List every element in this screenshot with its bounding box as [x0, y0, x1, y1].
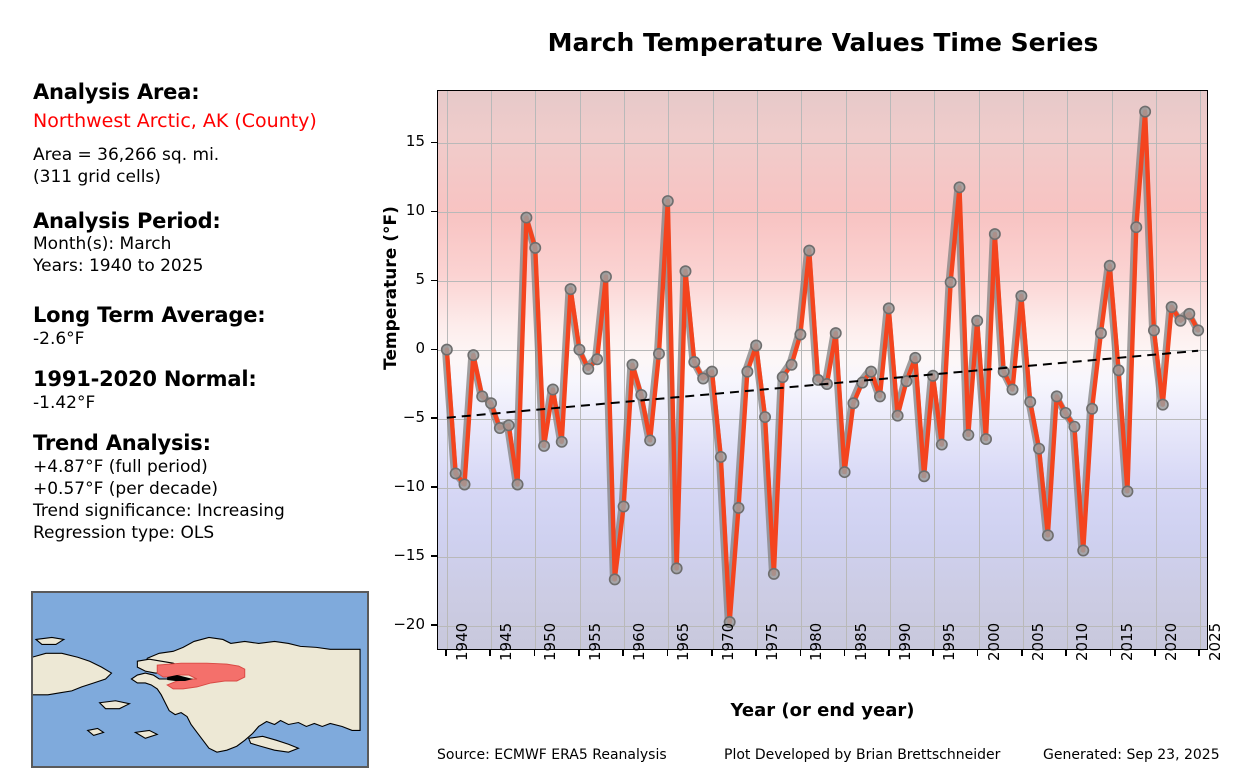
x-axis-tick-mark [800, 650, 802, 656]
data-point-marker [1113, 365, 1123, 375]
data-point-marker [539, 441, 549, 451]
data-point-marker [698, 373, 708, 383]
data-point-marker [1025, 397, 1035, 407]
data-point-marker [795, 329, 805, 339]
y-axis-tick-label: 10 [379, 203, 425, 218]
x-axis-tick-mark [1198, 650, 1200, 656]
data-point-marker [760, 412, 770, 422]
data-point-marker [654, 349, 664, 359]
data-point-marker [945, 277, 955, 287]
data-point-marker [1043, 530, 1053, 540]
data-point-marker [548, 384, 558, 394]
data-point-marker [557, 437, 567, 447]
climate-timeseries-page: Analysis Area: Northwest Arctic, AK (Cou… [0, 0, 1250, 780]
data-point-marker [875, 391, 885, 401]
trend-per-decade: +0.57°F (per decade) [33, 479, 218, 500]
data-point-marker [601, 272, 611, 282]
data-point-marker [866, 366, 876, 376]
data-point-marker [442, 344, 452, 354]
data-point-marker [751, 340, 761, 350]
x-axis-tick-label: 1990 [896, 623, 914, 661]
data-point-marker [1052, 391, 1062, 401]
data-point-marker [610, 574, 620, 584]
footer-source: Source: ECMWF ERA5 Reanalysis [437, 747, 667, 763]
x-axis-tick-label: 1970 [719, 623, 737, 661]
data-point-marker [848, 398, 858, 408]
x-axis-tick-mark [622, 650, 624, 656]
chart-title: March Temperature Values Time Series [437, 28, 1209, 57]
x-axis-tick-mark [932, 650, 934, 656]
x-axis-tick-mark [888, 650, 890, 656]
x-axis-tick-label: 2015 [1118, 623, 1136, 661]
y-axis-tick-label: −10 [379, 479, 425, 494]
x-axis-tick-label: 1950 [541, 623, 559, 661]
data-point-marker [1158, 399, 1168, 409]
data-point-marker [565, 284, 575, 294]
x-axis-tick-label: 2025 [1206, 623, 1224, 661]
x-axis-label: Year (or end year) [437, 700, 1208, 721]
data-point-marker [504, 420, 514, 430]
analysis-area-grid-cells: (311 grid cells) [33, 167, 161, 188]
data-point-marker [583, 364, 593, 374]
data-point-marker [1122, 486, 1132, 496]
y-axis-tick-mark [431, 349, 437, 351]
plot-area [437, 90, 1208, 650]
data-point-marker [954, 182, 964, 192]
x-axis-tick-mark [711, 650, 713, 656]
data-point-marker [671, 563, 681, 573]
data-point-marker [1007, 384, 1017, 394]
x-axis-tick-mark [755, 650, 757, 656]
normal-value: -1.42°F [33, 393, 95, 414]
normal-header: 1991-2020 Normal: [33, 367, 257, 391]
data-point-marker [689, 357, 699, 367]
x-axis-tick-mark [445, 650, 447, 656]
data-point-marker [831, 328, 841, 338]
data-point-marker [512, 479, 522, 489]
y-axis-tick-mark [431, 417, 437, 419]
data-point-marker [680, 266, 690, 276]
data-point-marker [1149, 325, 1159, 335]
y-axis-tick-mark [431, 211, 437, 213]
y-axis-tick-label: 15 [379, 134, 425, 149]
trend-full-period: +4.87°F (full period) [33, 457, 208, 478]
data-point-marker [1016, 291, 1026, 301]
alaska-map-svg [32, 592, 368, 767]
analysis-area-size: Area = 36,266 sq. mi. [33, 145, 219, 166]
long-term-average-value: -2.6°F [33, 329, 84, 350]
y-axis-tick-label: −5 [379, 410, 425, 425]
data-point-marker [1087, 404, 1097, 414]
x-axis-tick-label: 1965 [674, 623, 692, 661]
trend-significance: Trend significance: Increasing [33, 501, 285, 522]
x-axis-tick-label: 2020 [1162, 623, 1180, 661]
y-axis-tick-mark [431, 280, 437, 282]
data-point-marker [592, 354, 602, 364]
x-axis-tick-label: 2010 [1073, 623, 1091, 661]
data-point-marker [707, 366, 717, 376]
data-point-marker [450, 468, 460, 478]
x-axis-tick-label: 1955 [586, 623, 604, 661]
x-axis-tick-label: 1980 [807, 623, 825, 661]
data-point-marker [468, 350, 478, 360]
data-point-marker [716, 452, 726, 462]
data-point-marker [804, 245, 814, 255]
data-point-marker [778, 372, 788, 382]
data-point-marker [645, 435, 655, 445]
x-axis-tick-label: 1960 [630, 623, 648, 661]
data-point-marker [1069, 421, 1079, 431]
data-point-marker [742, 366, 752, 376]
y-axis-tick-mark [431, 624, 437, 626]
data-point-marker [477, 391, 487, 401]
x-axis-tick-label: 2005 [1029, 623, 1047, 661]
x-axis-tick-mark [667, 650, 669, 656]
analysis-area-header: Analysis Area: [33, 80, 199, 104]
analysis-period-header: Analysis Period: [33, 209, 221, 233]
data-point-marker [839, 467, 849, 477]
data-point-marker [972, 316, 982, 326]
data-point-marker [990, 229, 1000, 239]
location-inset-map [31, 591, 369, 768]
y-axis-tick-label: −20 [379, 617, 425, 632]
x-axis-tick-label: 1975 [763, 623, 781, 661]
data-point-marker [1078, 545, 1088, 555]
x-axis-tick-mark [534, 650, 536, 656]
data-point-marker [919, 471, 929, 481]
data-point-marker [1175, 316, 1185, 326]
data-point-marker [963, 430, 973, 440]
data-point-marker [627, 360, 637, 370]
y-axis-tick-mark [431, 142, 437, 144]
x-axis-tick-mark [1154, 650, 1156, 656]
data-point-marker [769, 569, 779, 579]
x-axis-tick-mark [1021, 650, 1023, 656]
series-layer [438, 91, 1207, 650]
regression-type: Regression type: OLS [33, 523, 214, 544]
data-point-marker [486, 398, 496, 408]
trend-analysis-header: Trend Analysis: [33, 431, 211, 455]
x-axis-tick-label: 2000 [985, 623, 1003, 661]
x-axis-tick-label: 1945 [497, 623, 515, 661]
x-axis-tick-mark [578, 650, 580, 656]
analysis-period-years: Years: 1940 to 2025 [33, 256, 203, 277]
long-term-average-header: Long Term Average: [33, 303, 265, 327]
x-axis-tick-mark [977, 650, 979, 656]
data-point-marker [928, 371, 938, 381]
data-point-marker [574, 344, 584, 354]
footer-author: Plot Developed by Brian Brettschneider [724, 747, 1000, 763]
trend-line [447, 351, 1198, 418]
data-point-marker [1131, 222, 1141, 232]
data-point-marker [892, 410, 902, 420]
analysis-period-months: Month(s): March [33, 234, 171, 255]
data-point-marker [663, 196, 673, 206]
data-point-marker [1140, 106, 1150, 116]
data-point-marker [521, 212, 531, 222]
data-point-marker [530, 243, 540, 253]
data-point-marker [910, 353, 920, 363]
data-point-marker [1193, 325, 1203, 335]
x-axis-tick-mark [489, 650, 491, 656]
y-axis-tick-mark [431, 486, 437, 488]
x-axis-tick-label: 1940 [453, 623, 471, 661]
analysis-area-name: Northwest Arctic, AK (County) [33, 110, 317, 132]
x-axis-tick-label: 1995 [940, 623, 958, 661]
data-point-marker [733, 503, 743, 513]
data-point-marker [636, 390, 646, 400]
footer-generated: Generated: Sep 23, 2025 [1043, 747, 1220, 763]
data-point-marker [884, 303, 894, 313]
data-point-marker [1060, 408, 1070, 418]
data-point-marker [937, 439, 947, 449]
data-point-marker [857, 377, 867, 387]
y-axis-tick-label: −15 [379, 548, 425, 563]
x-axis-tick-label: 1985 [852, 623, 870, 661]
data-point-marker [1105, 261, 1115, 271]
data-point-marker [1096, 328, 1106, 338]
data-point-marker [1184, 309, 1194, 319]
data-point-marker [786, 360, 796, 370]
y-axis-tick-label: 5 [379, 272, 425, 287]
y-axis-tick-label: 0 [379, 341, 425, 356]
data-point-marker [459, 479, 469, 489]
x-axis-tick-mark [844, 650, 846, 656]
data-point-marker [618, 501, 628, 511]
data-point-marker [1166, 302, 1176, 312]
data-point-marker [981, 434, 991, 444]
x-axis-tick-mark [1110, 650, 1112, 656]
y-axis-tick-mark [431, 555, 437, 557]
x-axis-tick-mark [1065, 650, 1067, 656]
data-point-marker [1034, 444, 1044, 454]
